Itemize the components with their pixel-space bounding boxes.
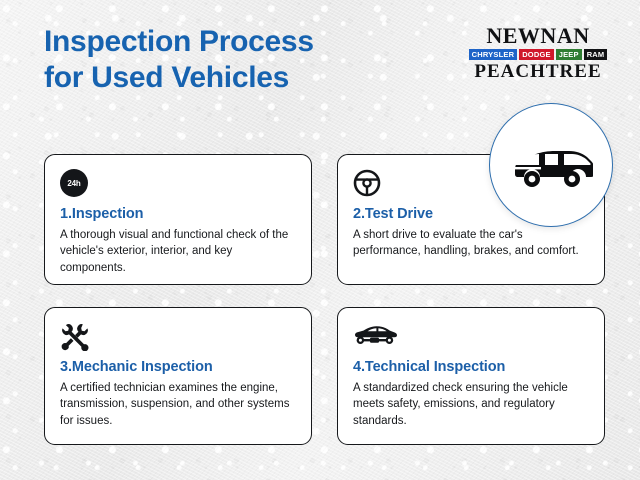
card-title: 3.Mechanic Inspection bbox=[60, 359, 296, 375]
card-body: A thorough visual and functional check o… bbox=[60, 227, 296, 276]
card-icon-wrapper bbox=[353, 321, 589, 351]
card-icon-wrapper bbox=[60, 321, 296, 351]
page-title-line-2: for Used Vehicles bbox=[44, 60, 424, 96]
dealer-logo: NEWNAN CHRYSLER DODGE JEEP RAM PEACHTREE bbox=[460, 24, 616, 82]
steering-wheel-icon bbox=[353, 169, 381, 197]
logo-bottom-text: PEACHTREE bbox=[460, 62, 616, 82]
logo-top-text: NEWNAN bbox=[460, 24, 616, 47]
brand-chip-dodge: DODGE bbox=[519, 49, 554, 60]
hero-car-circle bbox=[489, 103, 613, 227]
car-chassis-icon bbox=[353, 322, 397, 350]
page-title-line-1: Inspection Process bbox=[44, 24, 424, 60]
brand-chip-jeep: JEEP bbox=[556, 49, 582, 60]
card-body: A short drive to evaluate the car's perf… bbox=[353, 227, 589, 260]
card-title: 4.Technical Inspection bbox=[353, 359, 589, 375]
crossed-wrenches-icon bbox=[60, 321, 90, 351]
page-title: Inspection Process for Used Vehicles bbox=[44, 24, 424, 96]
infographic-poster: Inspection Process for Used Vehicles NEW… bbox=[0, 0, 640, 480]
card-icon-wrapper: 24h bbox=[60, 168, 296, 198]
step-card-mechanic-inspection: 3.Mechanic Inspection A certified techni… bbox=[44, 307, 312, 445]
suv-car-icon bbox=[509, 140, 593, 190]
card-title: 1.Inspection bbox=[60, 206, 296, 222]
step-card-inspection: 24h 1.Inspection A thorough visual and f… bbox=[44, 154, 312, 285]
step-card-technical-inspection: 4.Technical Inspection A standardized ch… bbox=[337, 307, 605, 445]
inspection-24h-badge-icon: 24h bbox=[60, 169, 88, 197]
logo-brand-bar: CHRYSLER DODGE JEEP RAM bbox=[460, 49, 616, 60]
card-body: A standardized check ensuring the vehicl… bbox=[353, 380, 589, 429]
brand-chip-chrysler: CHRYSLER bbox=[469, 49, 518, 60]
card-body: A certified technician examines the engi… bbox=[60, 380, 296, 429]
badge-24h-label: 24h bbox=[67, 179, 80, 188]
brand-chip-ram: RAM bbox=[584, 49, 608, 60]
